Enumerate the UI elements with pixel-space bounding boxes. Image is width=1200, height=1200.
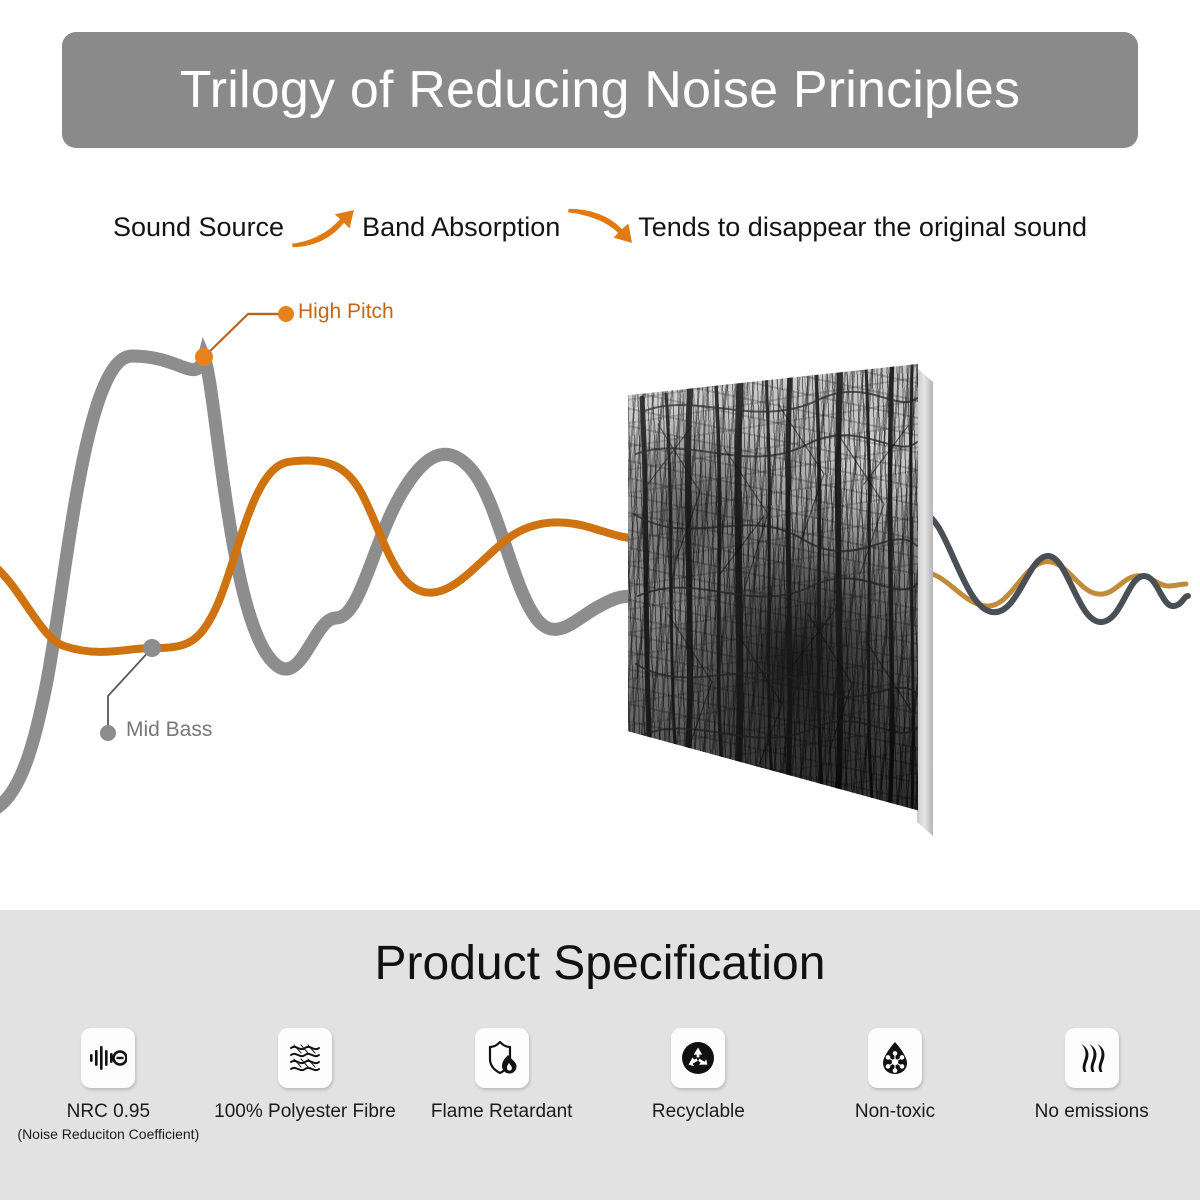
wave-gray-left <box>0 356 634 816</box>
callout-marker-high-pitch-dot <box>278 306 294 322</box>
non-toxic-droplet-icon <box>868 1028 922 1088</box>
spec-item-list: NRC 0.95 (Noise Reduciton Coefficient) <box>0 1028 1200 1142</box>
spec-sublabel-nrc: (Noise Reduciton Coefficient) <box>17 1126 199 1142</box>
arrow-down-right-icon <box>560 201 638 253</box>
flow-step-sound-source: Sound Source <box>113 212 284 243</box>
product-specification-section: Product Specification <box>0 910 1200 1200</box>
wave-gray-right <box>922 514 1188 622</box>
callout-label-high-pitch: High Pitch <box>298 300 394 324</box>
acoustic-panel <box>628 364 933 844</box>
flow-step-tends-to-disappear: Tends to disappear the original sound <box>638 212 1087 243</box>
spec-item-nrc: NRC 0.95 (Noise Reduciton Coefficient) <box>10 1028 207 1142</box>
header-banner: Trilogy of Reducing Noise Principles <box>62 32 1138 148</box>
spec-item-recyclable: Recyclable <box>600 1028 797 1123</box>
callout-label-mid-bass: Mid Bass <box>126 718 212 742</box>
spec-item-flame-retardant: Flame Retardant <box>403 1028 600 1123</box>
arrow-up-right-icon <box>284 201 362 253</box>
fibre-waves-icon <box>278 1028 332 1088</box>
page-title: Trilogy of Reducing Noise Principles <box>180 64 1021 116</box>
callout-line-high-pitch <box>204 308 285 357</box>
callout-marker-high-pitch-anchor <box>195 348 213 366</box>
acoustic-panel-forest-print <box>628 364 918 844</box>
spec-label-flame-retardant: Flame Retardant <box>431 1101 573 1123</box>
spec-item-polyester-fibre: 100% Polyester Fibre <box>207 1028 404 1123</box>
spec-label-non-toxic: Non-toxic <box>855 1101 935 1123</box>
recycle-icon <box>671 1028 725 1088</box>
spec-label-polyester-fibre: 100% Polyester Fibre <box>214 1101 396 1123</box>
sound-wave-icon <box>81 1028 135 1088</box>
spec-item-no-emissions: No emissions <box>993 1028 1190 1123</box>
callout-marker-mid-bass-dot <box>100 725 116 741</box>
acoustic-panel-edge <box>917 368 933 836</box>
spec-label-no-emissions: No emissions <box>1035 1101 1149 1123</box>
spec-item-non-toxic: Non-toxic <box>797 1028 994 1123</box>
no-emissions-icon <box>1065 1028 1119 1088</box>
callout-marker-mid-bass-anchor <box>143 639 161 657</box>
wave-curves <box>0 256 1200 910</box>
spec-section-title: Product Specification <box>0 936 1200 991</box>
sound-wave-diagram: High Pitch Mid Bass <box>0 256 1200 910</box>
product-infographic-page: Trilogy of Reducing Noise Principles Sou… <box>0 0 1200 1200</box>
shield-flame-icon <box>475 1028 529 1088</box>
spec-label-recyclable: Recyclable <box>652 1101 745 1123</box>
flow-step-band-absorption: Band Absorption <box>362 212 560 243</box>
noise-flow-row: Sound Source Band Absorption Tends to di… <box>0 198 1200 256</box>
wave-orange-right <box>922 562 1186 606</box>
spec-label-nrc: NRC 0.95 <box>67 1101 150 1123</box>
